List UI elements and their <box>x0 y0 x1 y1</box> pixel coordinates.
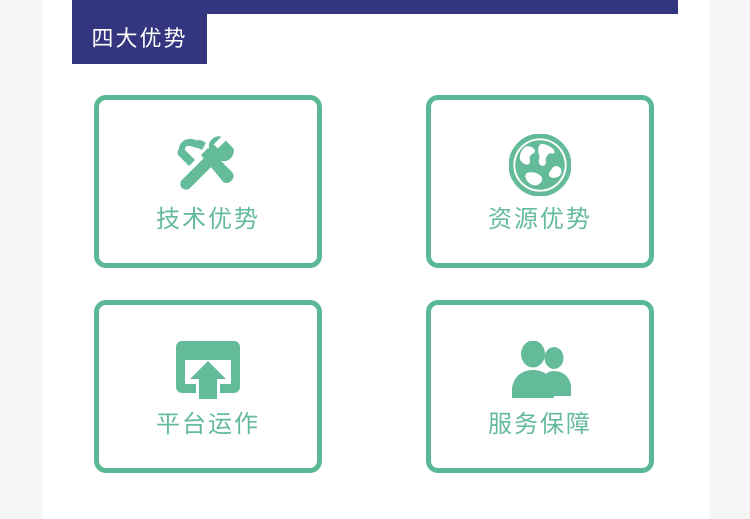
advantage-card-resources[interactable]: 资源优势 <box>426 95 654 268</box>
section-title-block: 四大优势 <box>72 14 207 64</box>
advantage-card-service[interactable]: 服务保障 <box>426 300 654 473</box>
advantage-card-label: 技术优势 <box>156 208 260 232</box>
advantage-card-technology[interactable]: 技术优势 <box>94 95 322 268</box>
advantage-card-platform[interactable]: 平台运作 <box>94 300 322 473</box>
advantage-card-label: 资源优势 <box>488 208 592 232</box>
globe-icon <box>504 132 576 198</box>
advantage-card-label: 平台运作 <box>156 413 260 437</box>
section-accent-bar <box>72 0 678 14</box>
page-root: 四大优势 技术优势 <box>0 0 750 519</box>
advantages-card-grid: 技术优势 资源优势 <box>94 95 654 473</box>
page-title: 四大优势 <box>91 28 187 50</box>
advantage-card-label: 服务保障 <box>488 413 592 437</box>
two-people-icon <box>504 337 576 403</box>
browser-upload-icon <box>172 337 244 403</box>
tools-icon <box>172 132 244 198</box>
